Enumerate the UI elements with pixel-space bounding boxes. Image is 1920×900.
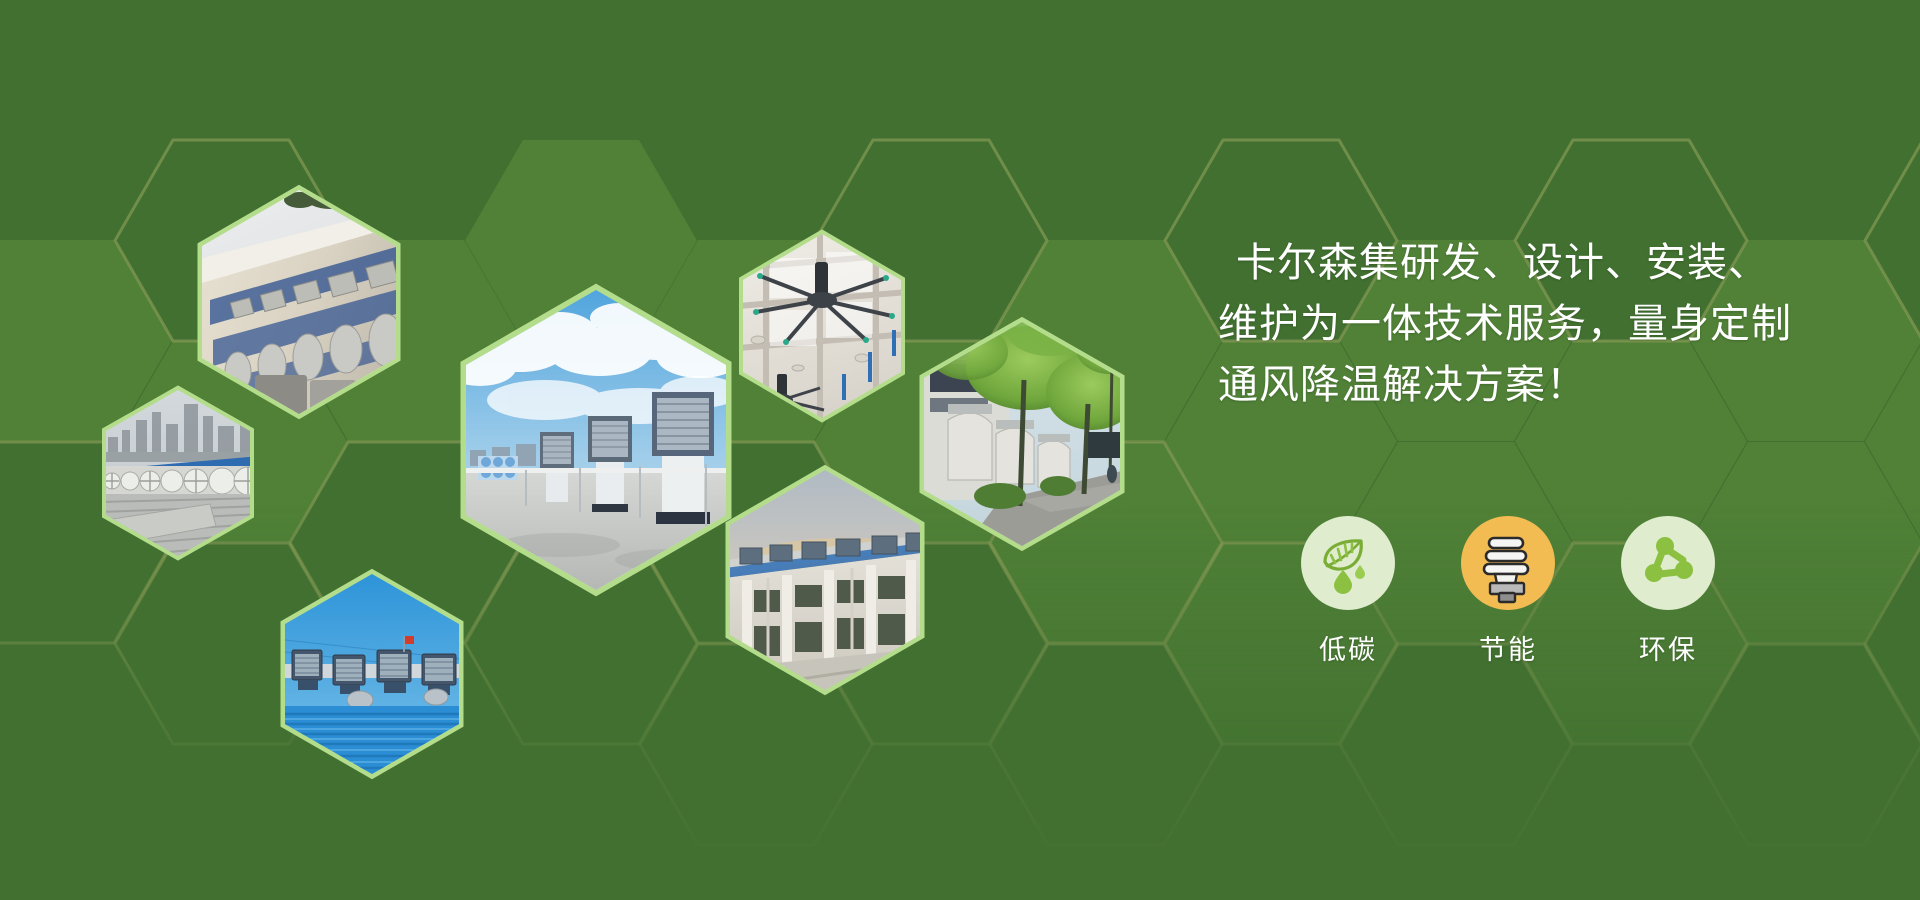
photo-rooftop-air-coolers-main (444, 283, 744, 600)
photo-rooftop-exhaust-fans (100, 385, 262, 565)
feature-badge-eco-friendly[interactable]: 环保 (1620, 516, 1716, 667)
photo-factory-building-dusk (725, 463, 935, 700)
photo-blue-roof-coolers (280, 568, 475, 782)
photo-hvls-ceiling-fan (738, 228, 908, 424)
photo-factory-facade-coolers (195, 183, 410, 423)
badge-disc-energy-saving (1461, 516, 1555, 610)
photo-factory-street-ducts (918, 304, 1144, 553)
headline-line-3: 通风降温解决方案！ (1218, 355, 1858, 416)
headline-line-2: 维护为一体技术服务，量身定制 (1218, 294, 1858, 355)
badge-label-energy-saving: 节能 (1479, 628, 1537, 667)
badge-label-low-carbon: 低碳 (1319, 628, 1377, 667)
badge-label-eco-friendly: 环保 (1639, 628, 1697, 667)
feature-badge-energy-saving[interactable]: 节能 (1460, 516, 1556, 667)
feature-badge-group: 低碳 节能 (1300, 516, 1716, 667)
recycle-molecule-icon (1638, 534, 1698, 592)
leaf-water-drop-icon (1317, 532, 1379, 594)
feature-badge-low-carbon[interactable]: 低碳 (1300, 516, 1396, 667)
headline-block: 卡尔森集研发、设计、安装、 维护为一体技术服务，量身定制 通风降温解决方案！ (1218, 233, 1858, 415)
badge-disc-eco-friendly (1621, 516, 1715, 610)
photo-hexagon-collage (0, 0, 1920, 900)
headline-line-1: 卡尔森集研发、设计、安装、 (1218, 233, 1858, 294)
banner-root: 卡尔森集研发、设计、安装、 维护为一体技术服务，量身定制 通风降温解决方案！ 低… (0, 0, 1920, 900)
badge-disc-low-carbon (1301, 516, 1395, 610)
cfl-lightbulb-icon (1473, 528, 1543, 604)
